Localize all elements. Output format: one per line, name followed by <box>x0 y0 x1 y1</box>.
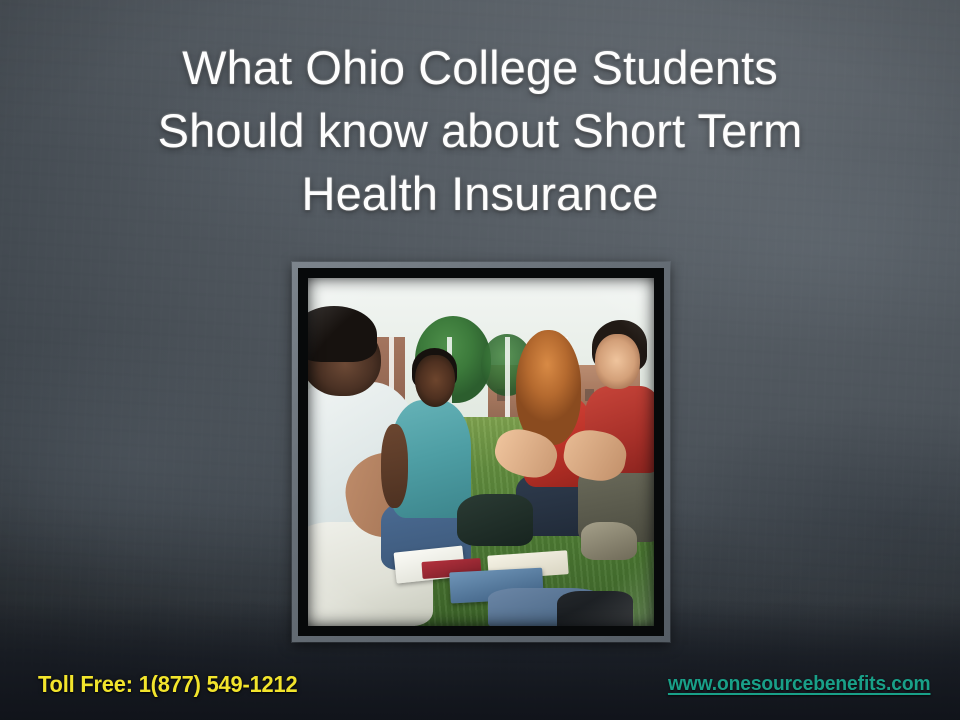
photo-student-right-head <box>595 334 640 390</box>
photo-bag-black <box>557 591 633 626</box>
photo-student-teal-head <box>415 355 455 407</box>
website-link[interactable]: www.onesourcebenefits.com <box>667 673 930 696</box>
toll-free-phone: Toll Free: 1(877) 549-1212 <box>38 671 297 698</box>
photo-student-teal-arm <box>381 424 409 508</box>
slide-title: What Ohio College Students Should know a… <box>60 36 900 225</box>
photo-student-right-shoe <box>581 522 636 560</box>
photo-frame-inner-border <box>298 268 664 636</box>
photo-backpack-dark <box>457 494 533 546</box>
students-photo <box>308 278 654 626</box>
slide-canvas: What Ohio College Students Should know a… <box>0 0 960 720</box>
photo-student-redhead-head <box>526 344 564 393</box>
photo-frame <box>292 262 670 642</box>
